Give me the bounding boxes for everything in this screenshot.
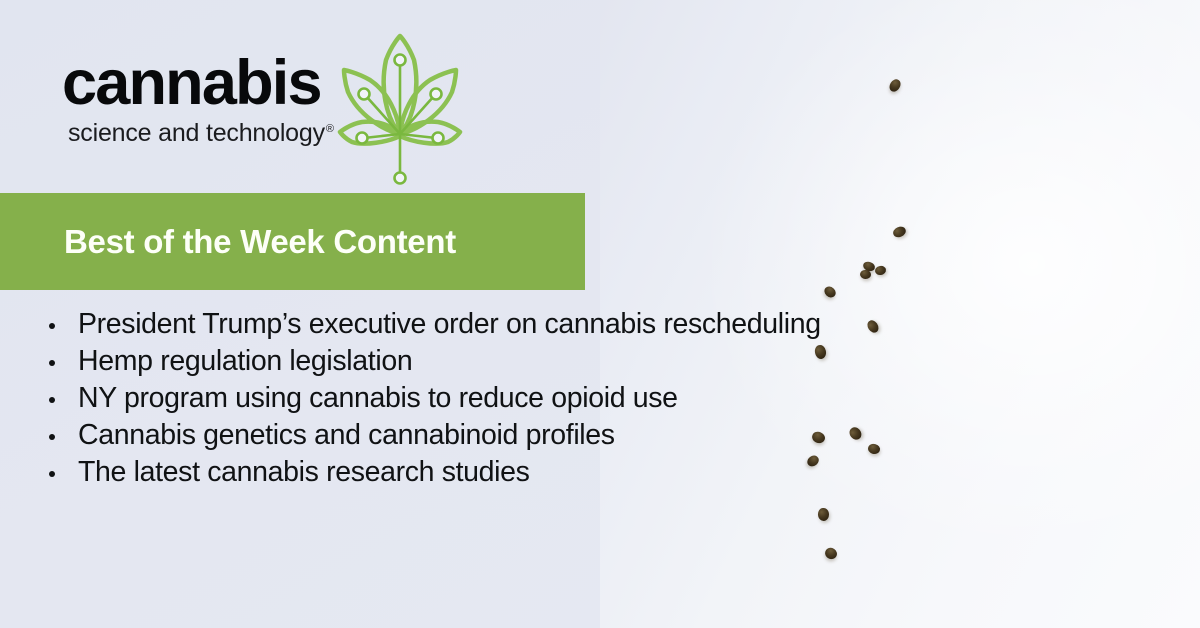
list-item: Hemp regulation legislation bbox=[44, 345, 834, 379]
cannabis-seed-icon bbox=[823, 546, 839, 562]
cannabis-seed-icon bbox=[887, 77, 902, 93]
cannabis-seed-icon bbox=[865, 318, 881, 334]
list-item: The latest cannabis research studies bbox=[44, 456, 834, 490]
cannabis-seed-icon bbox=[822, 284, 838, 300]
list-item: NY program using cannabis to reduce opio… bbox=[44, 382, 834, 416]
cannabis-seed-icon bbox=[867, 443, 881, 456]
logo-tagline-text: science and technology bbox=[68, 119, 325, 147]
brand-logo: cannabis science and technology® bbox=[62, 52, 482, 182]
cannabis-seed-icon bbox=[874, 265, 886, 276]
section-banner: Best of the Week Content bbox=[0, 193, 585, 290]
cannabis-seed-icon bbox=[817, 507, 829, 521]
banner-title: Best of the Week Content bbox=[64, 223, 456, 261]
cannabis-leaf-circuit-icon bbox=[330, 30, 470, 190]
content-bullet-list: President Trump’s executive order on can… bbox=[44, 308, 834, 493]
cannabis-seed-icon bbox=[847, 425, 864, 442]
promo-card: cannabis science and technology® bbox=[0, 0, 1200, 628]
list-item: President Trump’s executive order on can… bbox=[44, 308, 834, 342]
cannabis-seed-icon bbox=[892, 225, 908, 239]
cannabis-seed-icon bbox=[860, 269, 872, 279]
list-item: Cannabis genetics and cannabinoid profil… bbox=[44, 419, 834, 453]
